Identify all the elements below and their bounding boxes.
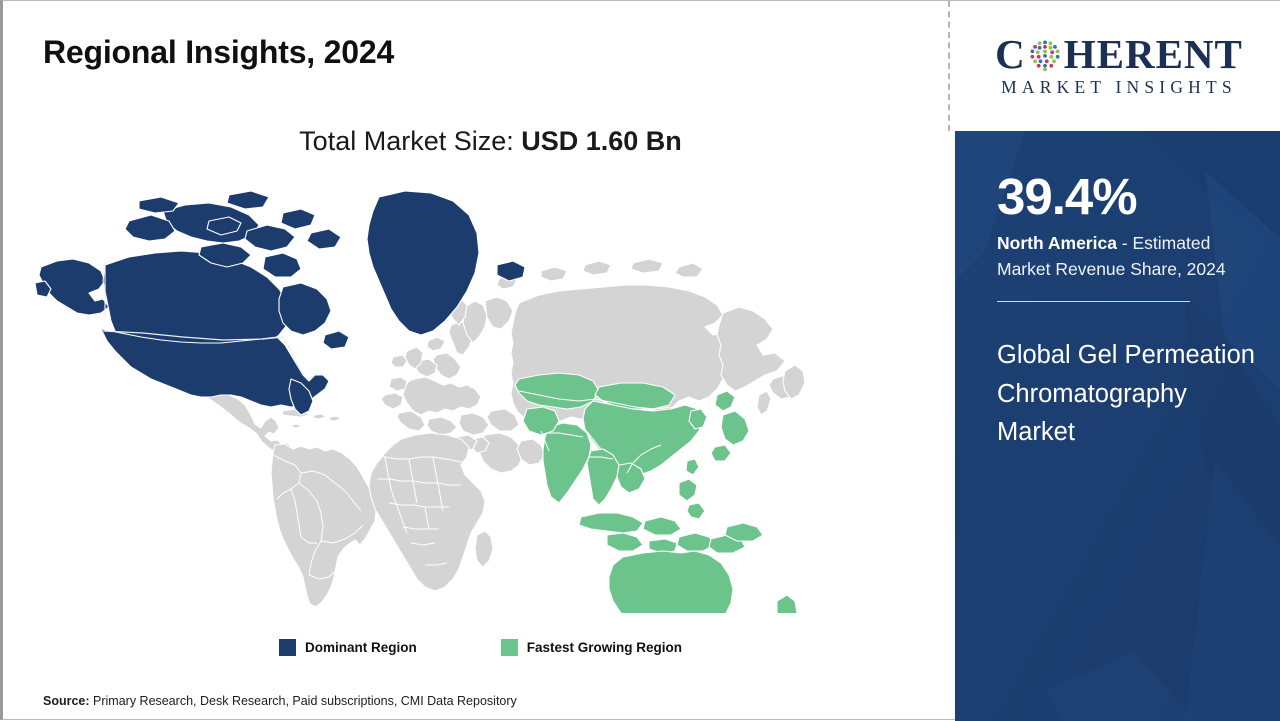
source-label: Source: [43, 694, 90, 708]
legend-label-dominant: Dominant Region [305, 640, 417, 655]
total-market-size-line: Total Market Size: USD 1.60 Bn [3, 126, 948, 157]
map-legend: Dominant Region Fastest Growing Region [3, 639, 948, 656]
stat-description: North America - Estimated Market Revenue… [997, 231, 1255, 283]
legend-label-fastest-growing: Fastest Growing Region [527, 640, 682, 655]
vertical-dashed-divider [948, 1, 950, 131]
world-map-svg [33, 183, 843, 613]
source-text: Primary Research, Desk Research, Paid su… [90, 694, 517, 708]
map-region-dominant [35, 191, 525, 415]
source-note: Source: Primary Research, Desk Research,… [43, 694, 517, 708]
legend-item-fastest-growing: Fastest Growing Region [501, 639, 682, 656]
logo-word-herent: HERENT [1064, 34, 1243, 75]
logo-letter-c: C [995, 34, 1026, 75]
stat-panel: 39.4% North America - Estimated Market R… [955, 131, 1280, 721]
legend-swatch-dominant-icon [279, 639, 296, 656]
infographic-root: Regional Insights, 2024 Total Market Siz… [0, 0, 1280, 720]
total-market-size-value: USD 1.60 Bn [521, 126, 682, 156]
total-market-size-label: Total Market Size: [299, 126, 521, 156]
stat-divider-line [997, 301, 1190, 302]
world-map [33, 183, 843, 613]
page-title: Regional Insights, 2024 [43, 34, 394, 71]
logo-wordmark: C [969, 34, 1269, 75]
globe-dot-matrix-icon [1027, 37, 1063, 73]
market-name: Global Gel Permeation Chromatography Mar… [997, 336, 1255, 452]
legend-swatch-fastest-icon [501, 639, 518, 656]
left-content-panel: Regional Insights, 2024 Total Market Siz… [3, 1, 948, 721]
stat-region-name: North America [997, 233, 1117, 253]
stat-percentage: 39.4% [997, 171, 1255, 222]
legend-item-dominant: Dominant Region [279, 639, 417, 656]
logo-tagline: MARKET INSIGHTS [969, 77, 1269, 98]
brand-logo: C [955, 1, 1280, 131]
